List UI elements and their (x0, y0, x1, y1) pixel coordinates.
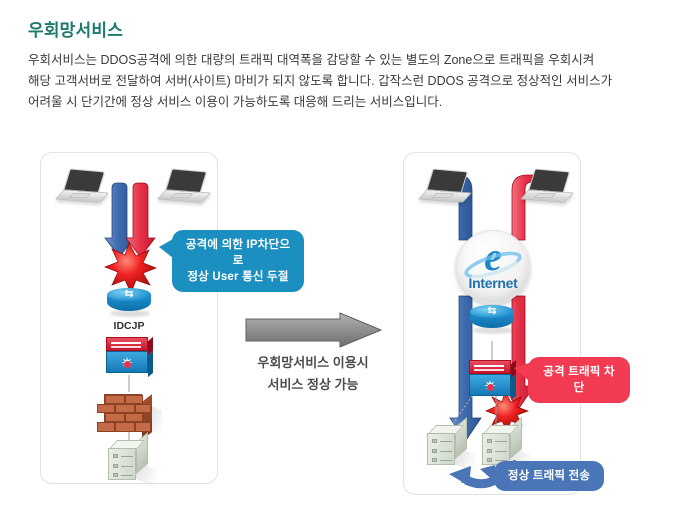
callout-text: 정상 트래픽 전송 (505, 468, 593, 484)
firewall-brick (125, 413, 143, 422)
router-arrows-glyph: ⇆ (477, 306, 507, 317)
firewall-face (104, 394, 142, 432)
server-icon (423, 423, 473, 467)
firewall-brick (115, 422, 135, 432)
callout-normal-traffic-forwarded: 정상 트래픽 전송 (494, 461, 604, 491)
internet-label: Internet (457, 275, 529, 291)
server-front (427, 433, 455, 465)
callout-line-1: 공격에 의한 IP차단으로 (183, 237, 293, 269)
laptop-icon (523, 170, 571, 204)
server-led (113, 473, 118, 477)
server-vent (495, 441, 507, 442)
server-vent (121, 456, 133, 457)
router-shadow (473, 327, 513, 334)
firewall-brick (135, 422, 151, 432)
middle-right-arrow-icon (246, 313, 381, 347)
switch-center-dot (487, 384, 494, 391)
switch-top-unit (469, 360, 511, 374)
server-icon (104, 438, 154, 482)
firewall-icon (104, 390, 156, 434)
server-led (487, 458, 492, 462)
middle-caption: 우회망서비스 이용시 서비스 정상 가능 (228, 352, 398, 396)
switch-center-dot (124, 361, 131, 368)
router-label: IDCJP (84, 320, 174, 332)
page-root: 우회망서비스 우회서비스는 DDOS공격에 의한 대량의 트래픽 대역폭을 감당… (0, 0, 680, 525)
server-vent (121, 475, 133, 476)
switch-icon: ✷ (106, 337, 152, 377)
callout-tail (480, 465, 495, 482)
callout-line-2: 정상 User 통신 두절 (183, 269, 293, 285)
callout-tail (514, 363, 529, 381)
firewall-brick (105, 395, 125, 404)
internet-cloud-icon: e Internet (456, 230, 530, 304)
laptop-icon (58, 170, 106, 204)
server-led (113, 464, 118, 468)
router-arrows-glyph: ⇆ (114, 289, 144, 300)
router-shadow (110, 310, 150, 317)
router-icon: ⇆ (107, 288, 151, 318)
server-led (113, 454, 118, 458)
firewall-brick (105, 413, 125, 422)
server-vent (440, 460, 452, 461)
server-vent (440, 451, 452, 452)
diagram-connectors-layer (0, 0, 680, 525)
firewall-brick (115, 404, 135, 413)
router-icon: ⇆ (470, 305, 514, 335)
server-vent (440, 441, 452, 442)
firewall-brick (97, 404, 115, 413)
firewall-brick (125, 395, 143, 404)
callout-attack-blocks-ip: 공격에 의한 IP차단으로 정상 User 통신 두절 (172, 230, 304, 292)
callout-text: 공격 트래픽 차단 (539, 364, 619, 396)
firewall-brick (97, 422, 115, 432)
switch-top-unit (106, 337, 148, 351)
laptop-icon (421, 170, 469, 204)
left-attack-burst-icon (105, 243, 156, 293)
laptop-icon (160, 170, 208, 204)
server-led (487, 439, 492, 443)
server-led (432, 439, 437, 443)
switch-bottom-side (148, 351, 153, 377)
server-vent (121, 466, 133, 467)
middle-caption-line-1: 우회망서비스 이용시 (228, 352, 398, 374)
server-led (487, 449, 492, 453)
middle-caption-line-2: 서비스 정상 가능 (228, 374, 398, 396)
firewall-brick (135, 404, 151, 413)
callout-attack-traffic-blocked: 공격 트래픽 차단 (528, 357, 630, 403)
server-front (108, 448, 136, 480)
switch-icon: ✷ (469, 360, 515, 400)
server-led (432, 449, 437, 453)
server-vent (495, 451, 507, 452)
server-led (432, 458, 437, 462)
callout-tail (159, 239, 173, 258)
